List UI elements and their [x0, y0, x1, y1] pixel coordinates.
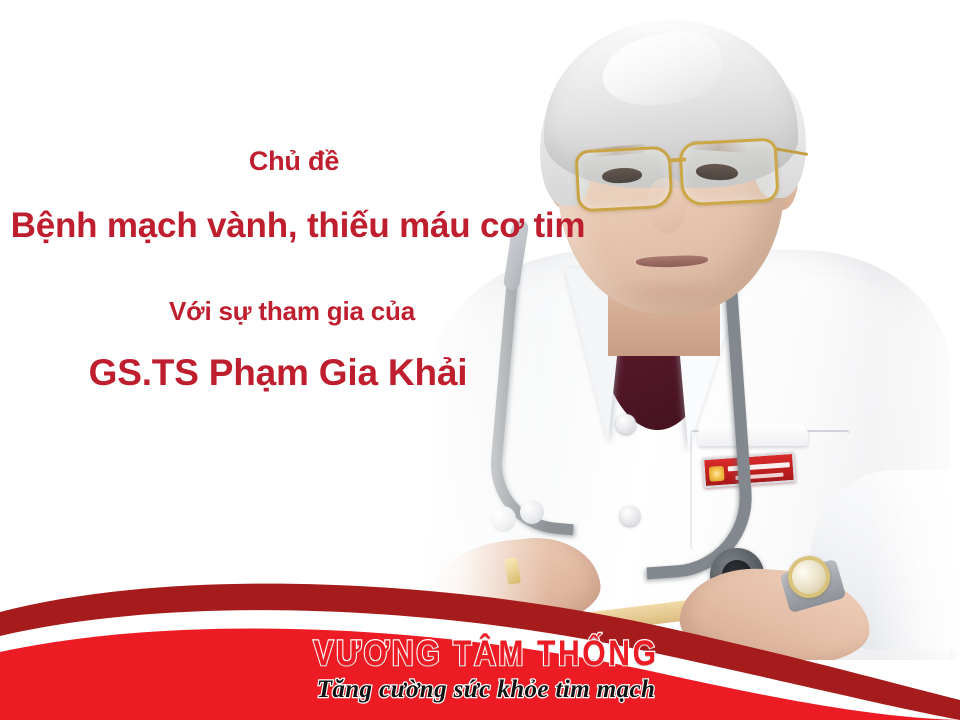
stethoscope-tip — [520, 500, 544, 524]
hand-left — [426, 531, 604, 638]
eye-right — [696, 163, 739, 181]
brand-lockup: VƯƠNG TÂM THỐNG Tăng cường sức khỏe tim … — [0, 636, 960, 720]
slide-canvas: Chủ đề Bệnh mạch vành, thiếu máu cơ tim … — [0, 0, 960, 720]
ear-right — [766, 148, 798, 210]
wristwatch-band — [780, 559, 847, 613]
eye-left — [602, 167, 643, 184]
wristwatch-face — [783, 551, 835, 603]
hospital-name-badge — [702, 452, 796, 488]
slide-text-block: Chủ đề Bệnh mạch vành, thiếu máu cơ tim … — [0, 0, 580, 440]
stethoscope-diaphragm — [722, 560, 752, 590]
brand-name: VƯƠNG TÂM THỐNG — [67, 636, 893, 671]
desk-paper — [380, 453, 710, 608]
eyeglasses-temple-arm — [774, 147, 808, 156]
topic-title: Bệnh mạch vành, thiếu máu cơ tim — [8, 206, 588, 246]
coat-button — [616, 414, 636, 434]
wedding-ring — [504, 557, 521, 585]
eyeglasses-lens-left — [574, 146, 673, 213]
photo-right-fade — [870, 0, 960, 660]
brand-tagline: Tăng cường sức khỏe tim mạch — [0, 677, 960, 702]
hair-highlight — [598, 26, 727, 112]
chin-shading — [612, 276, 732, 308]
neck — [608, 286, 720, 356]
guest-label: Với sự tham gia của — [2, 296, 582, 327]
coat-pocket — [690, 430, 850, 550]
badge-text-line — [735, 473, 783, 480]
badge-logo-icon — [709, 466, 725, 482]
guest-name: GS.TS Phạm Gia Khải — [0, 352, 568, 394]
topic-label: Chủ đề — [4, 146, 584, 177]
coat-pocket-flap — [698, 424, 808, 446]
coat-button — [620, 506, 640, 526]
collar-shadow — [585, 250, 735, 290]
mouth — [636, 255, 708, 269]
eyeglasses-lens-right — [678, 137, 779, 206]
eyeglasses-bridge — [668, 157, 686, 162]
stethoscope-tip — [490, 506, 516, 532]
nose — [648, 178, 686, 234]
eyebrow-left — [592, 144, 647, 158]
coat-sleeve-right — [810, 470, 960, 650]
badge-text-line — [728, 462, 790, 471]
coat-lapel-right — [672, 259, 766, 450]
face — [558, 38, 784, 314]
eyebrow-right — [690, 140, 746, 153]
dress-shirt — [595, 250, 720, 430]
desk-surface — [380, 470, 960, 660]
stethoscope-chestpiece — [710, 548, 764, 602]
hair-side-right — [752, 82, 806, 198]
stethoscope-tube-right — [623, 223, 757, 580]
